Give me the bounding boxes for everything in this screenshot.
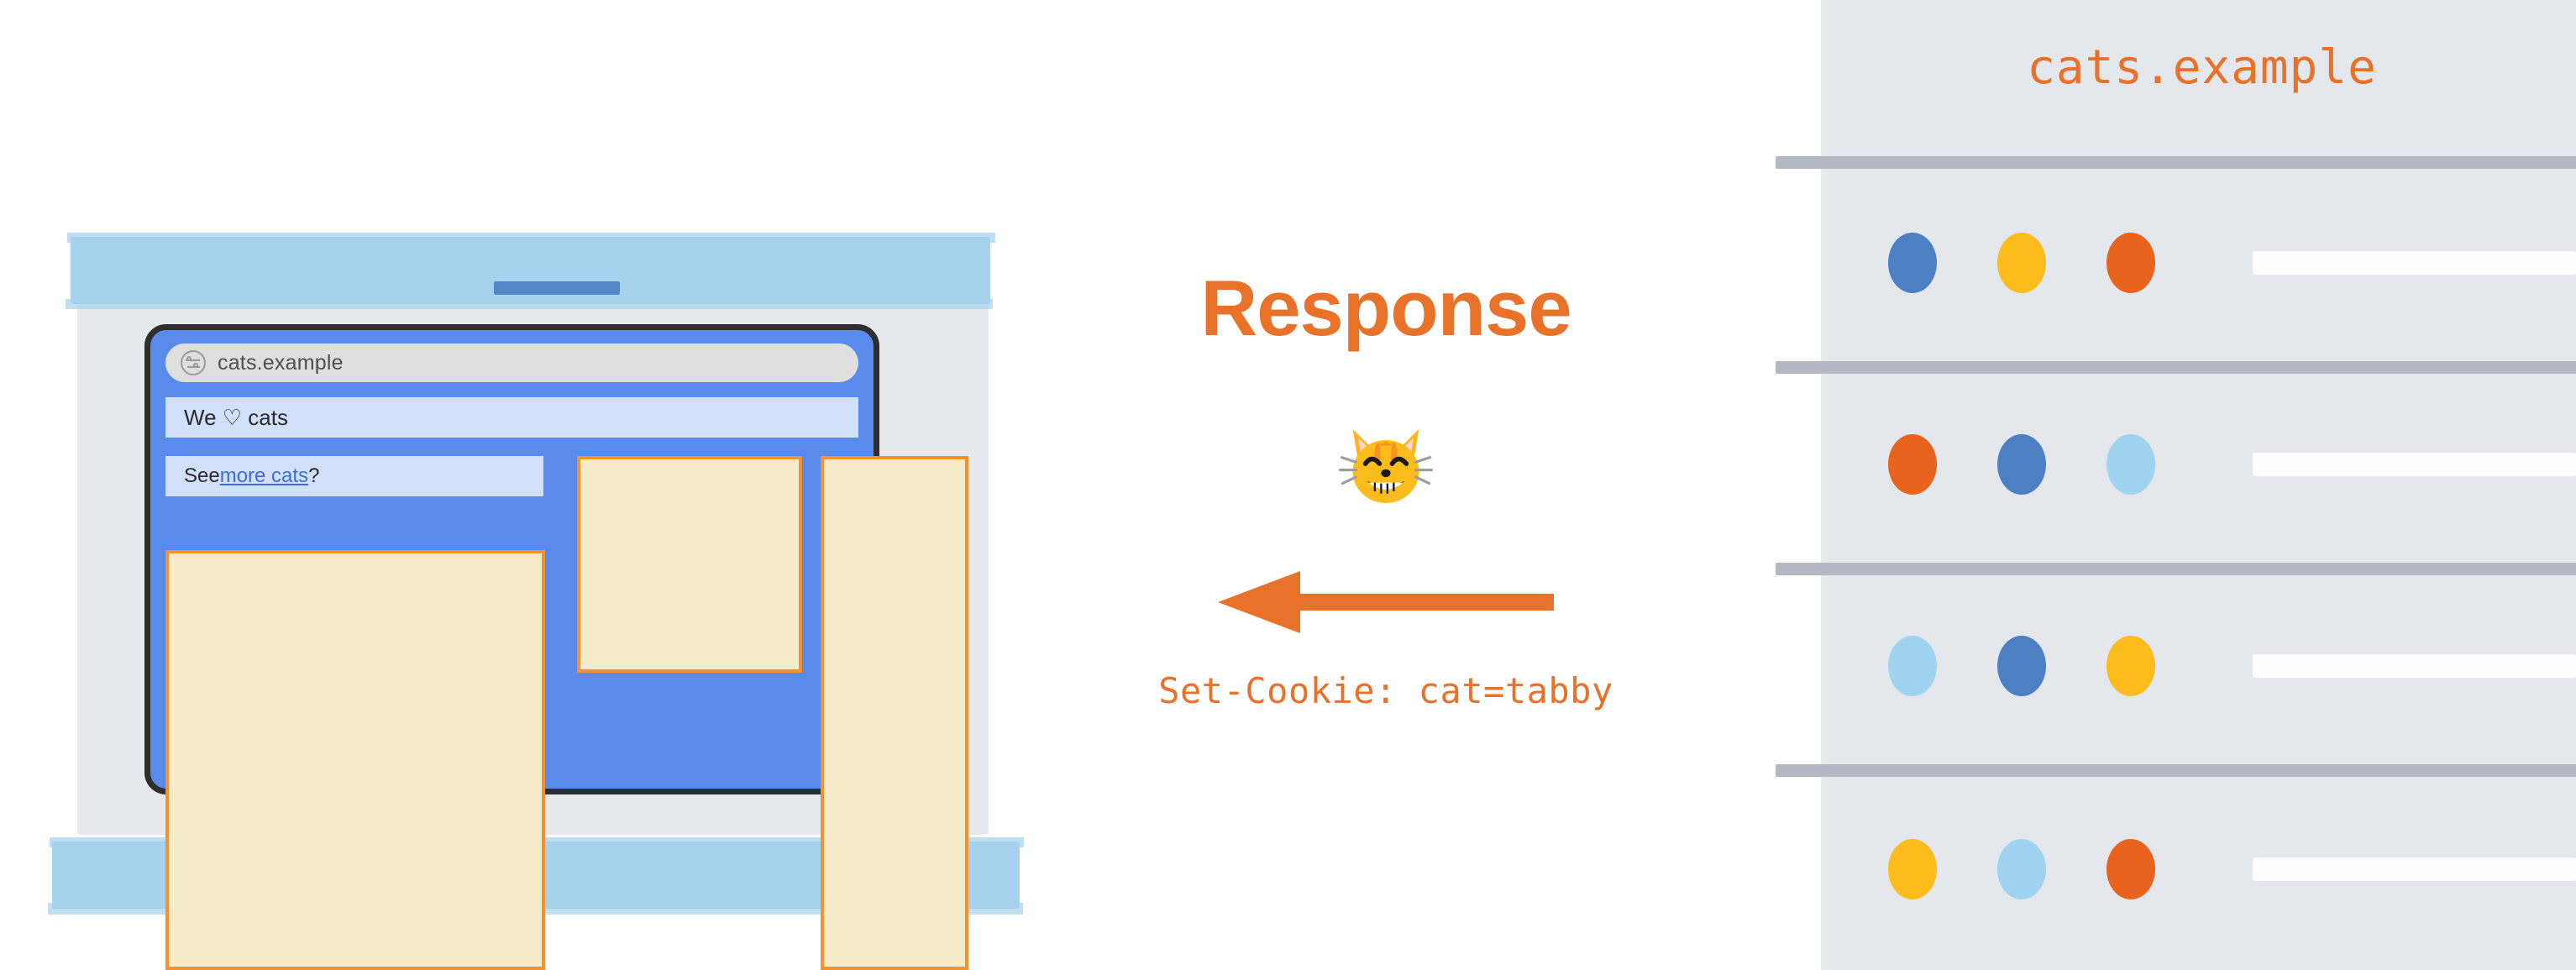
server-row-scribble — [2253, 251, 2576, 275]
link-suffix-text: ? — [308, 464, 319, 488]
browser-window: cats.example We ♡ cats See more cats? — [144, 324, 879, 794]
color-dot — [1997, 233, 2046, 293]
server-divider — [1776, 563, 2576, 575]
server-title: cats.example — [1828, 40, 2576, 95]
server-row-scribble — [2253, 453, 2576, 476]
left-arrow — [1067, 556, 1705, 648]
server-panel: cats.example — [1828, 0, 2576, 970]
webcam-scribble-icon — [494, 281, 620, 295]
server-row-scribble — [2253, 654, 2576, 678]
content-block-main — [165, 550, 545, 970]
server-row — [1828, 225, 2576, 301]
set-cookie-header: Set-Cookie: cat=tabby — [1067, 670, 1705, 711]
color-dot — [1997, 636, 2046, 696]
address-bar[interactable]: cats.example — [165, 343, 858, 382]
content-block-top — [577, 456, 802, 673]
color-dot — [1888, 839, 1937, 899]
grinning-cat-emoji — [1067, 415, 1705, 516]
response-title: Response — [1067, 269, 1705, 348]
server-divider — [1776, 361, 2576, 374]
server-row — [1828, 427, 2576, 502]
color-dot — [1888, 434, 1937, 495]
color-dot — [1997, 839, 2046, 899]
server-divider — [1776, 764, 2576, 777]
laptop-top-bezel — [71, 237, 990, 304]
color-dot — [2106, 233, 2155, 293]
laptop-device: cats.example We ♡ cats See more cats? — [52, 217, 1022, 905]
server-row — [1828, 628, 2576, 704]
page-link-row: See more cats? — [165, 456, 543, 496]
address-bar-value: cats.example — [218, 351, 344, 375]
content-block-right — [821, 456, 968, 970]
tune-sliders-icon — [181, 350, 206, 375]
more-cats-link[interactable]: more cats — [220, 464, 308, 488]
server-row — [1828, 831, 2576, 907]
color-dot — [2106, 434, 2155, 495]
page-heading: We ♡ cats — [165, 397, 858, 438]
diagram-canvas: cats.example We ♡ cats See more cats? Re… — [0, 0, 2576, 970]
response-section: Response — [1067, 269, 1705, 857]
server-row-scribble — [2253, 857, 2576, 881]
page-content-area: See more cats? — [165, 456, 858, 753]
server-divider — [1776, 156, 2576, 169]
color-dot — [2106, 636, 2155, 696]
link-prefix-text: See — [184, 464, 220, 488]
color-dot — [1888, 636, 1937, 696]
color-dot — [1997, 434, 2046, 495]
color-dot — [1888, 233, 1937, 293]
color-dot — [2106, 839, 2155, 899]
